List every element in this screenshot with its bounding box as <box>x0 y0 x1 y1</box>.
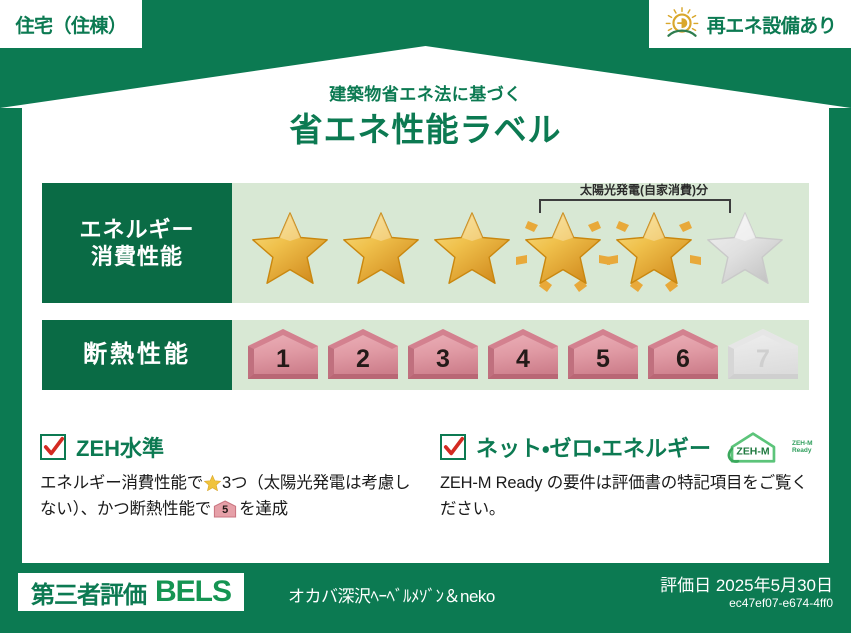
star-icon <box>612 210 696 292</box>
check-icon <box>440 434 466 460</box>
energy-star-track: 太陽光発電(自家消費)分 <box>232 183 809 303</box>
star-2 <box>335 205 426 297</box>
star-1 <box>244 205 335 297</box>
right-green-margin <box>829 108 851 568</box>
net-zero-energy-block: ネット・ゼロ・エネルギー ZEH-M ZEH-M Ready ZEH-M Rea… <box>440 432 820 523</box>
insulation-badge-4: 4 <box>484 327 562 383</box>
insulation-badge-number: 1 <box>244 327 322 383</box>
building-type-badge: 住宅（住棟） <box>0 0 142 48</box>
insulation-badge-number: 6 <box>644 327 722 383</box>
check-icon <box>40 434 66 460</box>
insulation-badge-7: 7 <box>724 327 802 383</box>
insulation-badge-number: 4 <box>484 327 562 383</box>
insulation-label: 断熱性能 <box>83 340 191 370</box>
insulation-badge-5: 5 <box>564 327 642 383</box>
zeh-m-sub-line1: ZEH-M <box>792 440 813 447</box>
star-icon <box>204 473 221 490</box>
svg-text:ZEH-M: ZEH-M <box>736 447 769 458</box>
zeh-standard-heading: ZEH水準 <box>40 432 420 462</box>
star-icon <box>521 210 605 292</box>
insulation-badge-number: 2 <box>324 327 402 383</box>
energy-performance-label-box: エネルギー 消費性能 <box>42 183 232 303</box>
zeh-desc-part1: エネルギー消費性能で <box>40 474 203 492</box>
page-title: 省エネ性能ラベル <box>0 103 851 151</box>
evaluation-date: 評価日 2025年5月30日 <box>660 571 833 596</box>
zeh-m-logo-icon: ZEH-M <box>727 430 779 464</box>
net-zero-energy-heading: ネット・ゼロ・エネルギー ZEH-M ZEH-M Ready <box>440 432 820 462</box>
energy-label-line2: 消費性能 <box>91 243 183 271</box>
insulation-badge-number: 5 <box>564 327 642 383</box>
insulation-performance-label-box: 断熱性能 <box>42 320 232 390</box>
insulation-level-badges: 1234567 <box>232 320 809 390</box>
zeh-m-sub-line2: Ready <box>792 447 812 454</box>
third-party-eval-label: 第三者評価 <box>31 575 146 610</box>
net-zero-energy-title: ネット・ゼロ・エネルギー <box>476 431 711 463</box>
star-3 <box>426 205 517 297</box>
zeh-standard-block: ZEH水準 エネルギー消費性能で3つ（太陽光発電は考慮しない）、かつ断熱性能で5… <box>40 432 420 523</box>
evaluation-id: ec47ef07-e674-4ff0 <box>729 596 833 610</box>
star-icon <box>703 210 787 292</box>
insulation-badge-inline-number: 5 <box>213 500 237 518</box>
star-icon <box>339 210 423 292</box>
solar-annotation-bracket <box>539 199 731 213</box>
star-5 <box>608 205 699 297</box>
insulation-level-track: 1234567 <box>232 320 809 390</box>
solar-annotation-text: 太陽光発電(自家消費)分 <box>534 181 754 198</box>
building-name: オカバ深沢ﾍｰﾍﾞﾙﾒｿﾞﾝ＆neko <box>288 582 495 607</box>
insulation-badge-number: 7 <box>724 327 802 383</box>
footer-bar: 第三者評価 BELS オカバ深沢ﾍｰﾍﾞﾙﾒｿﾞﾝ＆neko 評価日 2025年… <box>0 563 851 633</box>
renewable-energy-label: 再エネ設備あり <box>707 11 837 38</box>
insulation-performance-row: 断熱性能 1234567 <box>42 320 809 390</box>
star-icon <box>248 210 332 292</box>
energy-performance-row: エネルギー 消費性能 太陽光発電(自家消費)分 <box>42 183 809 303</box>
insulation-badge-2: 2 <box>324 327 402 383</box>
label-subtitle: 建築物省エネ法に基づく <box>0 80 851 105</box>
building-type-label: 住宅（住棟） <box>15 11 126 38</box>
energy-label-line1: エネルギー <box>79 216 194 244</box>
insulation-badge-3: 3 <box>404 327 482 383</box>
insulation-badge-number: 3 <box>404 327 482 383</box>
star-icon <box>430 210 514 292</box>
renewable-energy-badge: 再エネ設備あり <box>649 0 851 48</box>
solar-sun-icon <box>664 6 700 42</box>
zeh-standard-description: エネルギー消費性能で3つ（太陽光発電は考慮しない）、かつ断熱性能で5を達成 <box>40 470 420 523</box>
energy-performance-label: 住宅（住棟） 再エネ設備あり 建築物省エネ法に基づく 省エネ性能ラベル <box>0 0 851 633</box>
bels-logo-text: BELS <box>155 575 231 609</box>
left-green-margin <box>0 108 22 568</box>
star-rating <box>232 203 809 299</box>
zeh-m-ready-sublabel: ZEH-M Ready <box>792 440 813 455</box>
star-4 <box>517 205 608 297</box>
star-6 <box>699 205 790 297</box>
zeh-desc-part3: を達成 <box>239 500 288 518</box>
insulation-badge-inline: 5 <box>213 500 237 518</box>
insulation-badge-6: 6 <box>644 327 722 383</box>
bels-certification-box: 第三者評価 BELS <box>18 573 244 611</box>
insulation-badge-1: 1 <box>244 327 322 383</box>
zeh-standard-title: ZEH水準 <box>76 431 164 463</box>
net-zero-energy-description: ZEH-M Ready の要件は評価書の特記項目をご覧ください。 <box>440 470 820 523</box>
